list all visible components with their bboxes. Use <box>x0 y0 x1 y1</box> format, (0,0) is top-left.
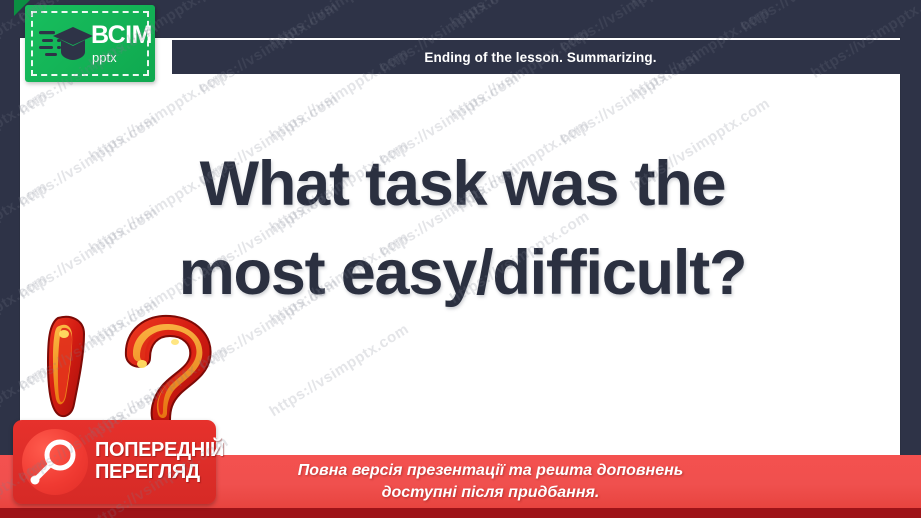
question-line-2: most easy/difficult? <box>40 229 885 318</box>
question-line-1: What task was the <box>40 140 885 229</box>
graduation-cap-icon <box>39 25 93 65</box>
page-title: What task was the most easy/difficult? <box>40 140 885 319</box>
logo-brand-text: ВСІМ <box>91 23 152 48</box>
purchase-notice-line-1: Повна версія презентації та решта доповн… <box>298 460 684 482</box>
slide-preview-viewport: What task was the most easy/difficult? E… <box>0 0 921 518</box>
preview-badge-line-1: ПОПЕРЕДНІЙ <box>95 440 224 462</box>
purchase-notice-text: Повна версія презентації та решта доповн… <box>238 460 684 503</box>
logo-wordmark: ВСІМ pptx <box>91 23 152 64</box>
magnifier-icon <box>22 429 88 495</box>
watermark-row: https://vsimpptx.comhttps://vsimpptx.com… <box>0 0 921 2</box>
notice-footer-strip <box>0 508 921 518</box>
logo-extension-text: pptx <box>92 51 152 64</box>
brand-logo[interactable]: ВСІМ pptx <box>25 5 155 82</box>
preview-badge-line-2: ПЕРЕГЛЯД <box>95 462 224 484</box>
purchase-notice-line-2: доступні після придбання. <box>298 482 684 504</box>
preview-badge[interactable]: ПОПЕРЕДНІЙ ПЕРЕГЛЯД <box>13 420 216 504</box>
preview-badge-label: ПОПЕРЕДНІЙ ПЕРЕГЛЯД <box>95 440 224 483</box>
slide-header-bar: Ending of the lesson. Summarizing. <box>172 40 909 74</box>
slide-header-title: Ending of the lesson. Summarizing. <box>424 50 656 65</box>
